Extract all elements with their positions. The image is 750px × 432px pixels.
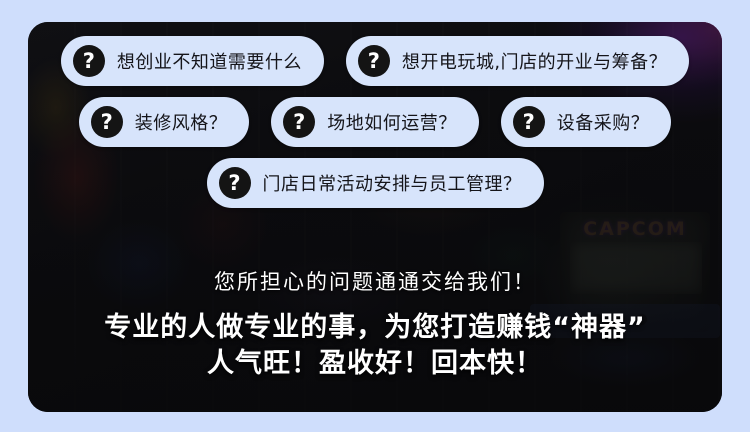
question-mark-icon: ? (73, 45, 105, 77)
question-pill-row: ? 装修风格？ ? 场地如何运营？ ? 设备采购？ (28, 97, 722, 147)
headline-lede: 您所担心的问题通通交给我们！ (28, 266, 722, 296)
headline-block: 您所担心的问题通通交给我们！ 专业的人做专业的事，为您打造赚钱“神器” 人气旺！… (28, 266, 722, 382)
question-pill-label: 想开电玩城,门店的开业与筹备？ (402, 48, 667, 74)
headline-line-1: 专业的人做专业的事，为您打造赚钱“神器” (28, 310, 722, 346)
question-pill[interactable]: ? 想开电玩城,门店的开业与筹备？ (346, 36, 689, 86)
question-pill[interactable]: ? 设备采购？ (501, 97, 672, 147)
question-mark-icon: ? (513, 106, 545, 138)
arcade-panel: CAPCOM ? 想创业不知道需要什么 ? 想开电玩城,门店的开业与筹备？ (28, 22, 722, 412)
question-pill-label: 设备采购？ (557, 109, 650, 135)
question-pill[interactable]: ? 装修风格？ (79, 97, 250, 147)
question-mark-icon: ? (283, 106, 315, 138)
question-pill-label: 门店日常活动安排与员工管理？ (263, 170, 522, 196)
question-mark-icon: ? (358, 45, 390, 77)
question-pill-row: ? 想创业不知道需要什么 ? 想开电玩城,门店的开业与筹备？ (28, 36, 722, 86)
question-pill-label: 场地如何运营？ (327, 109, 457, 135)
question-mark-icon: ? (219, 167, 251, 199)
question-pill[interactable]: ? 场地如何运营？ (271, 97, 479, 147)
question-mark-icon: ? (91, 106, 123, 138)
question-pill-label: 装修风格？ (135, 109, 228, 135)
question-pill-label: 想创业不知道需要什么 (117, 48, 302, 74)
question-pill[interactable]: ? 门店日常活动安排与员工管理？ (207, 158, 544, 208)
question-pill-row: ? 门店日常活动安排与员工管理？ (28, 158, 722, 208)
headline-line-2: 人气旺！盈收好！回本快！ (28, 346, 722, 382)
promo-banner: CAPCOM ? 想创业不知道需要什么 ? 想开电玩城,门店的开业与筹备？ (0, 0, 750, 432)
question-pill[interactable]: ? 想创业不知道需要什么 (61, 36, 324, 86)
